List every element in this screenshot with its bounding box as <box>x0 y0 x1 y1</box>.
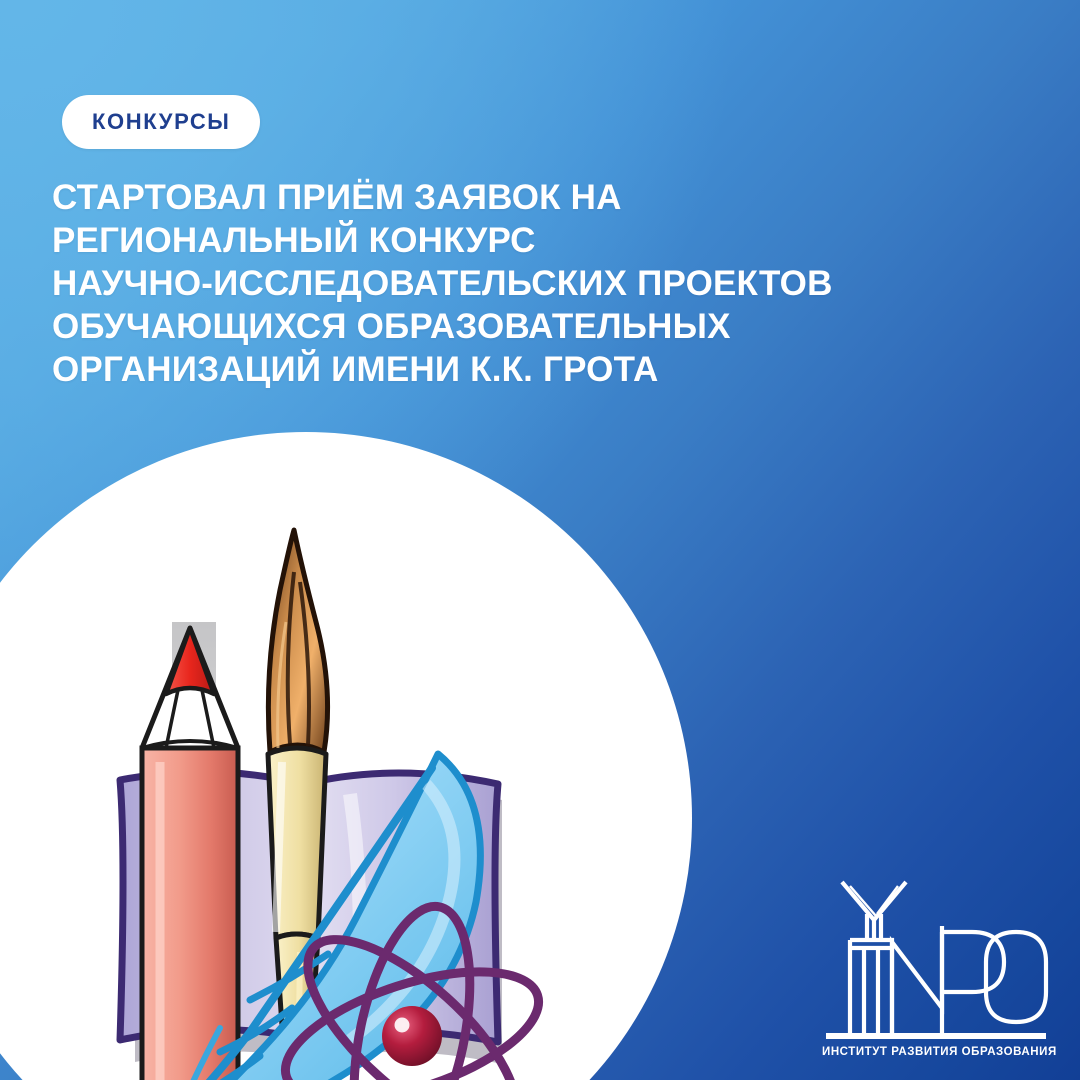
headline-line-5: ОРГАНИЗАЦИЙ ИМЕНИ К.К. ГРОТА <box>52 348 952 391</box>
headline-line-2: РЕГИОНАЛЬНЫЙ КОНКУРС <box>52 219 952 262</box>
red-pencil-graphic <box>142 622 238 1080</box>
logo-caption: ИНСТИТУТ РАЗВИТИЯ ОБРАЗОВАНИЯ <box>822 1046 1050 1058</box>
headline-line-1: СТАРТОВАЛ ПРИЁМ ЗАЯВОК НА <box>52 176 952 219</box>
category-badge: КОНКУРСЫ <box>62 95 260 149</box>
headline-line-4: ОБУЧАЮЩИХСЯ ОБРАЗОВАТЕЛЬНЫХ <box>52 305 952 348</box>
announcement-poster: КОНКУРСЫ СТАРТОВАЛ ПРИЁМ ЗАЯВОК НА РЕГИО… <box>0 0 1080 1080</box>
headline: СТАРТОВАЛ ПРИЁМ ЗАЯВОК НА РЕГИОНАЛЬНЫЙ К… <box>52 176 952 391</box>
headline-line-3: НАУЧНО-ИССЛЕДОВАТЕЛЬСКИХ ПРОЕКТОВ <box>52 262 952 305</box>
illustration-circle <box>0 432 692 1080</box>
iro-logo <box>820 870 1052 1062</box>
category-badge-label: КОНКУРСЫ <box>92 111 230 133</box>
